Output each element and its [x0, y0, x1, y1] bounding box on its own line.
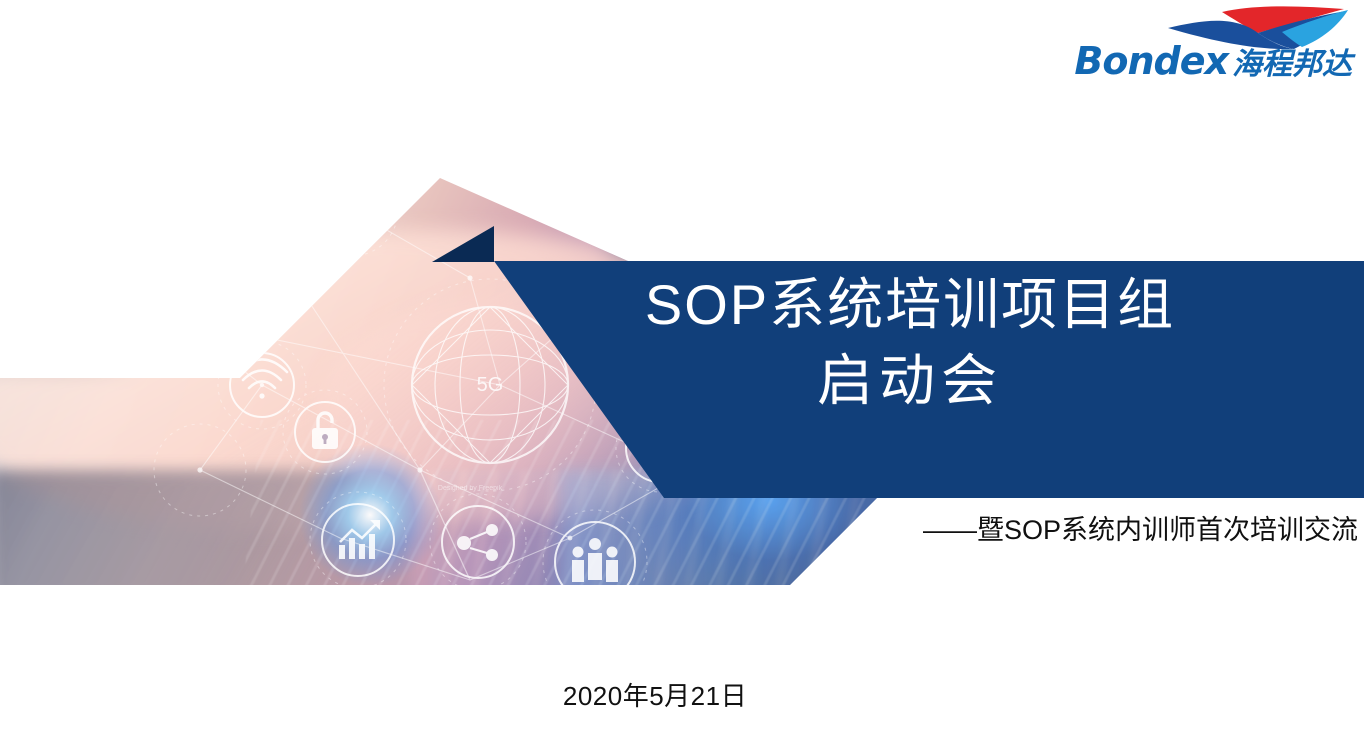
logo-wordmark: Bondex 海程邦达	[1074, 42, 1352, 80]
photo-credit-text: Designed by Freepik	[438, 485, 503, 492]
wifi-icon	[237, 360, 287, 399]
logo-english-text: Bondex	[1074, 42, 1228, 80]
people-group-icon	[572, 538, 618, 582]
globe-icon	[163, 305, 193, 335]
slide-root: 5G Designed by Freepik	[0, 0, 1364, 754]
monitor-presentation-icon	[330, 194, 376, 235]
page-title-line-1: SOP系统培训项目组	[470, 268, 1350, 342]
brand-logo[interactable]: Bondex 海程邦达	[1066, 6, 1356, 86]
logo-chinese-text: 海程邦达	[1232, 50, 1352, 80]
page-title: SOP系统培训项目组 启动会	[470, 268, 1350, 420]
share-nodes-icon	[457, 524, 498, 561]
presentation-date: 2020年5月21日	[0, 676, 1310, 713]
page-title-line-2: 启动会	[470, 342, 1350, 420]
page-subtitle: ——暨SOP系统内训师首次培训交流	[923, 508, 1358, 547]
photo-shoulder-shadow	[0, 170, 150, 380]
